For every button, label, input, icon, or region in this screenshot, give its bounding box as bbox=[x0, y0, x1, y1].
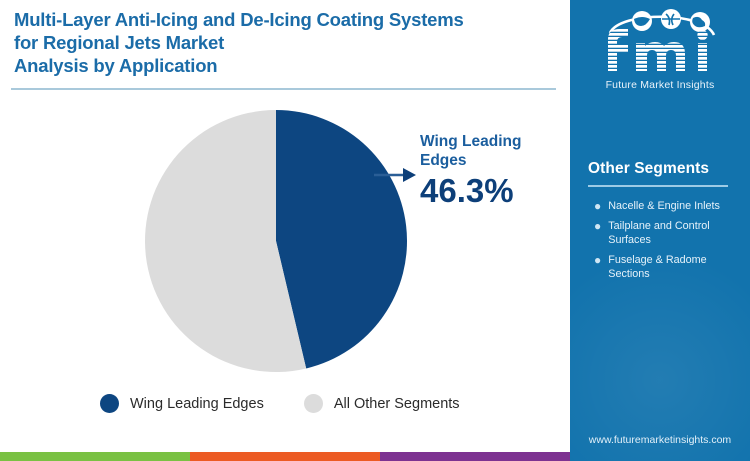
callout-value: 46.3% bbox=[420, 172, 560, 210]
strip-segment-purple bbox=[380, 452, 570, 461]
legend-swatch-icon bbox=[100, 394, 119, 413]
page-title: Multi-Layer Anti-Icing and De-Icing Coat… bbox=[14, 8, 559, 77]
other-segments-divider bbox=[588, 185, 728, 187]
title-line-1: Multi-Layer Anti-Icing and De-Icing Coat… bbox=[14, 8, 559, 31]
globe-icon bbox=[632, 11, 652, 31]
legend-swatch-icon bbox=[304, 394, 323, 413]
pie-chart-svg bbox=[145, 110, 407, 372]
list-item-label: Tailplane and Control Surfaces bbox=[608, 219, 726, 247]
fmi-logo: Future Market Insights bbox=[586, 5, 734, 91]
other-segments-block: Other Segments ● Nacelle & Engine Inlets… bbox=[588, 160, 738, 287]
list-item-label: Nacelle & Engine Inlets bbox=[608, 199, 726, 213]
bullet-icon: ● bbox=[594, 219, 601, 247]
list-item: ● Tailplane and Control Surfaces bbox=[588, 219, 738, 247]
bullet-icon: ● bbox=[594, 199, 601, 213]
arrow-right-icon bbox=[374, 163, 418, 187]
infographic-page: Multi-Layer Anti-Icing and De-Icing Coat… bbox=[0, 0, 750, 461]
fmi-logo-mark bbox=[586, 5, 734, 73]
title-line-3: Analysis by Application bbox=[14, 54, 559, 77]
bullet-icon: ● bbox=[594, 253, 601, 281]
list-item-label: Fuselage & Radome Sections bbox=[608, 253, 726, 281]
globe-icon bbox=[661, 9, 681, 29]
strip-segment-green bbox=[0, 452, 190, 461]
callout-label: Wing Leading Edges bbox=[420, 132, 530, 170]
legend-label: All Other Segments bbox=[334, 396, 460, 412]
other-segments-heading: Other Segments bbox=[588, 160, 738, 178]
website-url[interactable]: www.futuremarketinsights.com bbox=[570, 434, 750, 446]
bottom-color-strip bbox=[0, 452, 570, 461]
list-item: ● Fuselage & Radome Sections bbox=[588, 253, 738, 281]
title-line-2: for Regional Jets Market bbox=[14, 31, 559, 54]
list-item: ● Nacelle & Engine Inlets bbox=[588, 199, 738, 213]
callout-block: Wing Leading Edges 46.3% bbox=[420, 132, 560, 210]
chart-legend: Wing Leading Edges All Other Segments bbox=[100, 394, 500, 413]
legend-item-wing-leading-edges: Wing Leading Edges bbox=[100, 394, 264, 413]
strip-segment-orange bbox=[190, 452, 380, 461]
logo-tagline: Future Market Insights bbox=[586, 79, 734, 91]
other-segments-list: ● Nacelle & Engine Inlets ● Tailplane an… bbox=[588, 199, 738, 281]
globe-icon bbox=[690, 12, 710, 32]
legend-label: Wing Leading Edges bbox=[130, 396, 264, 412]
title-divider bbox=[11, 88, 556, 90]
legend-item-all-other-segments: All Other Segments bbox=[304, 394, 460, 413]
side-panel: Future Market Insights Other Segments ● … bbox=[570, 0, 750, 461]
